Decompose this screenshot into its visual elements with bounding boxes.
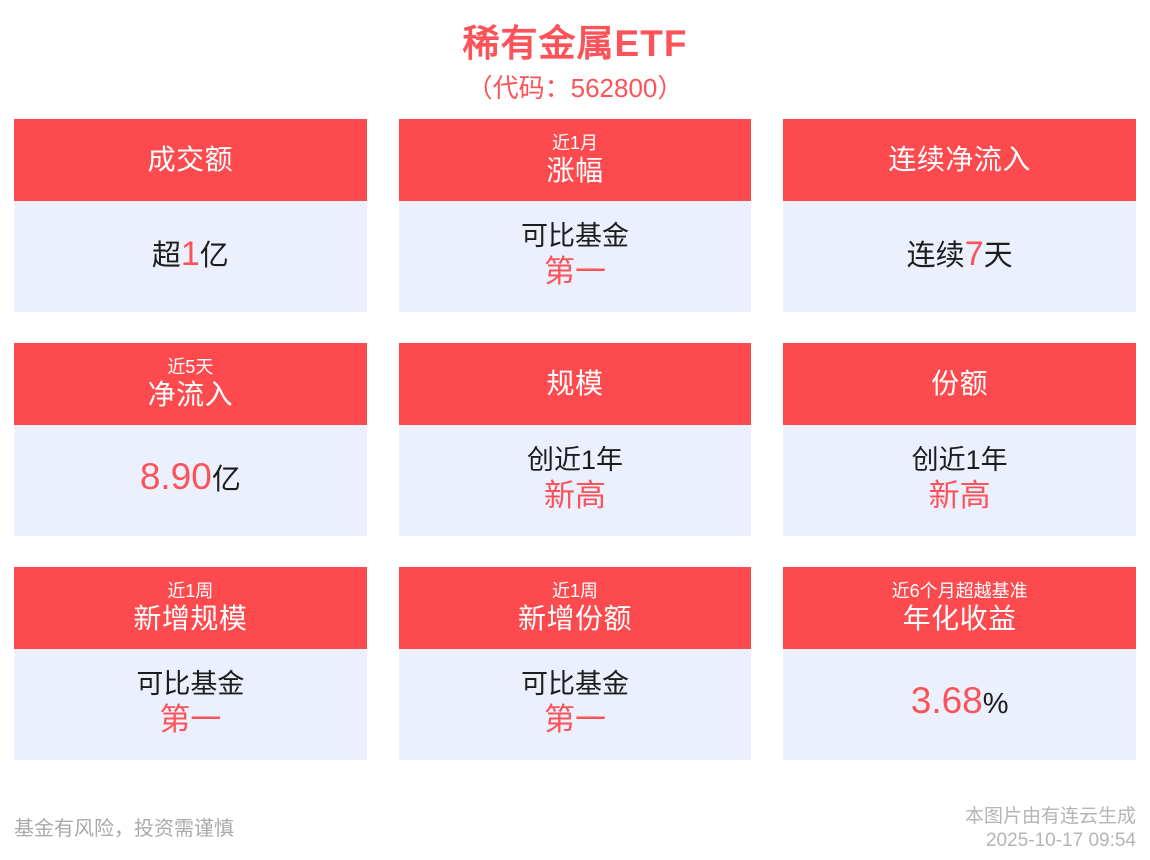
metric-card-header: 规模 bbox=[399, 343, 752, 425]
metric-card-period: 近6个月超越基准 bbox=[892, 580, 1028, 602]
metric-value-unit: 连续 bbox=[907, 240, 965, 272]
metric-card-title: 连续净流入 bbox=[888, 143, 1031, 177]
metric-card-header: 近1月涨幅 bbox=[399, 119, 752, 201]
metric-value-number: 8.90 bbox=[140, 456, 212, 497]
metric-card: 近5天净流入8.90亿 bbox=[14, 343, 367, 536]
metric-card-period: 近1周 bbox=[167, 580, 213, 602]
metric-card-body: 可比基金第一 bbox=[399, 201, 752, 312]
metric-value-primary: 可比基金 bbox=[521, 667, 629, 701]
metric-card: 近1月涨幅可比基金第一 bbox=[399, 119, 752, 312]
metric-card-body: 超1亿 bbox=[14, 201, 367, 312]
metric-value-highlight: 第一 bbox=[544, 701, 606, 739]
metric-value-highlight: 第一 bbox=[544, 253, 606, 291]
metric-value-unit: 亿 bbox=[212, 464, 241, 496]
metric-card: 成交额超1亿 bbox=[14, 119, 367, 312]
risk-disclaimer: 基金有风险，投资需谨慎 bbox=[14, 816, 234, 842]
metric-card: 连续净流入连续7天 bbox=[783, 119, 1136, 312]
metric-card-title: 新增份额 bbox=[518, 602, 632, 636]
metric-card-body: 连续7天 bbox=[783, 201, 1136, 312]
metric-card-header: 成交额 bbox=[14, 119, 367, 201]
metric-card-header: 近1周新增份额 bbox=[399, 567, 752, 649]
metric-card-body: 3.68% bbox=[783, 649, 1136, 760]
metric-value-primary: 超1亿 bbox=[152, 235, 229, 275]
metric-value-unit: 天 bbox=[984, 240, 1013, 272]
metric-card: 近1周新增份额可比基金第一 bbox=[399, 567, 752, 760]
metric-card-title: 净流入 bbox=[148, 378, 234, 412]
etf-infographic-page: 稀有金属ETF （代码：562800） 成交额超1亿近1月涨幅可比基金第一连续净… bbox=[0, 0, 1150, 860]
metric-card-body: 8.90亿 bbox=[14, 425, 367, 536]
metric-value-highlight: 新高 bbox=[929, 477, 991, 515]
metric-card-title: 成交额 bbox=[148, 143, 234, 177]
metric-card-body: 可比基金第一 bbox=[399, 649, 752, 760]
metric-value-primary: 3.68% bbox=[911, 682, 1009, 723]
image-timestamp: 2025-10-17 09:54 bbox=[965, 829, 1136, 853]
metric-value-primary: 8.90亿 bbox=[140, 458, 241, 499]
metric-card-grid: 成交额超1亿近1月涨幅可比基金第一连续净流入连续7天近5天净流入8.90亿规模创… bbox=[14, 119, 1136, 760]
metric-card-body: 创近1年新高 bbox=[399, 425, 752, 536]
metric-value-number: 1 bbox=[181, 235, 200, 273]
metric-card-header: 连续净流入 bbox=[783, 119, 1136, 201]
metric-card-period: 近5天 bbox=[167, 356, 213, 378]
metric-value-primary: 可比基金 bbox=[521, 219, 629, 253]
fund-code-label: （代码：562800） bbox=[0, 68, 1150, 108]
metric-card-title: 涨幅 bbox=[546, 154, 603, 188]
metric-value-unit: 超 bbox=[152, 240, 181, 272]
metric-card-header: 份额 bbox=[783, 343, 1136, 425]
metric-value-number: 3.68 bbox=[911, 680, 983, 721]
metric-card: 近6个月超越基准年化收益3.68% bbox=[783, 567, 1136, 760]
metric-value-primary: 可比基金 bbox=[136, 667, 244, 701]
metric-card-header: 近5天净流入 bbox=[14, 343, 367, 425]
metric-value-primary: 创近1年 bbox=[527, 443, 623, 477]
metric-card-period: 近1周 bbox=[552, 580, 598, 602]
metric-value-unit: % bbox=[983, 688, 1009, 720]
page-title: 稀有金属ETF bbox=[0, 22, 1150, 66]
metric-value-primary: 连续7天 bbox=[907, 235, 1013, 275]
metric-value-highlight: 第一 bbox=[159, 701, 221, 739]
metric-card: 份额创近1年新高 bbox=[783, 343, 1136, 536]
footer: 基金有风险，投资需谨慎 本图片由有连云生成 2025-10-17 09:54 bbox=[0, 798, 1150, 860]
metric-card-title: 份额 bbox=[931, 367, 988, 401]
metric-card-title: 年化收益 bbox=[903, 602, 1017, 636]
metric-value-primary: 创近1年 bbox=[912, 443, 1008, 477]
metric-card-body: 可比基金第一 bbox=[14, 649, 367, 760]
metric-value-highlight: 新高 bbox=[544, 477, 606, 515]
metric-value-unit: 亿 bbox=[200, 240, 229, 272]
metric-card-title: 新增规模 bbox=[133, 602, 247, 636]
metric-card: 近1周新增规模可比基金第一 bbox=[14, 567, 367, 760]
metric-card-period: 近1月 bbox=[552, 132, 598, 154]
image-source-block: 本图片由有连云生成 2025-10-17 09:54 bbox=[965, 805, 1136, 853]
metric-card-title: 规模 bbox=[546, 367, 603, 401]
metric-card-header: 近6个月超越基准年化收益 bbox=[783, 567, 1136, 649]
metric-card: 规模创近1年新高 bbox=[399, 343, 752, 536]
title-block: 稀有金属ETF （代码：562800） bbox=[0, 0, 1150, 108]
metric-value-number: 7 bbox=[965, 235, 984, 273]
metric-card-header: 近1周新增规模 bbox=[14, 567, 367, 649]
metric-card-body: 创近1年新高 bbox=[783, 425, 1136, 536]
image-source-text: 本图片由有连云生成 bbox=[965, 805, 1136, 829]
